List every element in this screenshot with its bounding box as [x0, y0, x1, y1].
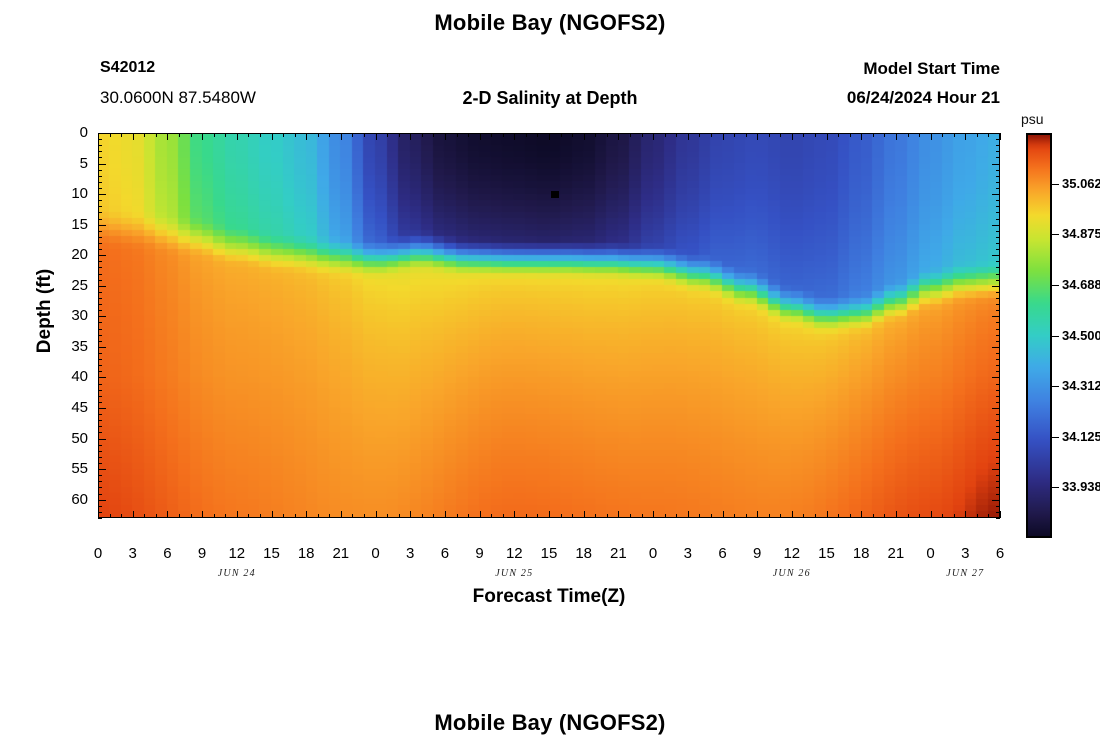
x-minor-tick [769, 133, 770, 137]
y-minor-tick [996, 182, 1000, 183]
y-minor-tick [996, 414, 1000, 415]
x-minor-tick [884, 133, 885, 137]
x-minor-tick [248, 133, 249, 137]
y-tick-right [992, 408, 1000, 409]
x-tick-bottom [757, 511, 758, 518]
x-tick-bottom [480, 511, 481, 518]
y-minor-tick [98, 139, 102, 140]
y-minor-tick [996, 280, 1000, 281]
x-minor-tick [156, 514, 157, 518]
y-tick-left [98, 286, 106, 287]
x-date-label: JUN 24 [192, 568, 282, 579]
x-tick-top [410, 133, 411, 140]
x-tick-bottom [723, 511, 724, 518]
y-minor-tick [996, 365, 1000, 366]
x-tick-top [618, 133, 619, 140]
y-tick-label: 45 [48, 399, 88, 416]
x-minor-tick [734, 133, 735, 137]
x-tick-bottom [133, 511, 134, 518]
y-minor-tick [98, 219, 102, 220]
x-date-label: JUN 25 [469, 568, 559, 579]
x-tick-bottom [861, 511, 862, 518]
y-minor-tick [996, 206, 1000, 207]
x-tick-bottom [931, 511, 932, 518]
y-minor-tick [98, 341, 102, 342]
y-minor-tick [996, 170, 1000, 171]
x-minor-tick [468, 133, 469, 137]
y-minor-tick [98, 292, 102, 293]
y-minor-tick [996, 341, 1000, 342]
y-tick-label: 60 [48, 491, 88, 508]
x-tick-bottom [653, 511, 654, 518]
colorbar-tick-label: 34.688 [1062, 277, 1100, 292]
y-minor-tick [996, 335, 1000, 336]
y-minor-tick [98, 426, 102, 427]
y-minor-tick [98, 475, 102, 476]
x-minor-tick [468, 514, 469, 518]
y-minor-tick [996, 481, 1000, 482]
x-minor-tick [665, 133, 666, 137]
x-minor-tick [225, 133, 226, 137]
y-minor-tick [98, 335, 102, 336]
y-tick-left [98, 347, 106, 348]
model-start-time-label: Model Start Time [0, 59, 1000, 79]
y-minor-tick [98, 384, 102, 385]
y-minor-tick [996, 157, 1000, 158]
y-minor-tick [98, 365, 102, 366]
x-minor-tick [873, 133, 874, 137]
x-minor-tick [191, 514, 192, 518]
salinity-heatmap [98, 133, 1000, 518]
y-tick-right [992, 439, 1000, 440]
x-minor-tick [676, 514, 677, 518]
x-minor-tick [954, 133, 955, 137]
station-position-marker [551, 191, 559, 198]
y-minor-tick [996, 151, 1000, 152]
y-minor-tick [98, 414, 102, 415]
y-minor-tick [996, 274, 1000, 275]
y-minor-tick [98, 518, 102, 519]
x-date-label: JUN 27 [920, 568, 1010, 579]
y-minor-tick [996, 298, 1000, 299]
y-minor-tick [98, 274, 102, 275]
y-minor-tick [98, 145, 102, 146]
y-tick-label: 0 [48, 124, 88, 141]
x-minor-tick [399, 514, 400, 518]
x-minor-tick [780, 133, 781, 137]
x-minor-tick [711, 133, 712, 137]
x-minor-tick [769, 514, 770, 518]
x-tick-bottom [445, 511, 446, 518]
y-minor-tick [98, 206, 102, 207]
y-minor-tick [98, 176, 102, 177]
colorbar-tick [1052, 184, 1059, 185]
x-minor-tick [191, 133, 192, 137]
x-tick-top [272, 133, 273, 140]
y-minor-tick [98, 457, 102, 458]
x-minor-tick [803, 133, 804, 137]
y-tick-right [992, 347, 1000, 348]
colorbar-tick-label: 33.938 [1062, 479, 1100, 494]
x-minor-tick [387, 514, 388, 518]
x-minor-tick [526, 514, 527, 518]
x-minor-tick [977, 514, 978, 518]
x-minor-tick [873, 514, 874, 518]
x-tick-bottom [792, 511, 793, 518]
x-minor-tick [457, 514, 458, 518]
x-tick-top [480, 133, 481, 140]
y-minor-tick [98, 237, 102, 238]
y-tick-right [992, 194, 1000, 195]
x-minor-tick [630, 514, 631, 518]
y-minor-tick [98, 243, 102, 244]
x-tick-bottom [272, 511, 273, 518]
x-minor-tick [364, 514, 365, 518]
x-minor-tick [942, 133, 943, 137]
y-minor-tick [996, 371, 1000, 372]
x-tick-top [688, 133, 689, 140]
y-minor-tick [98, 420, 102, 421]
y-minor-tick [996, 487, 1000, 488]
x-tick-top [202, 133, 203, 140]
colorbar-gradient [1028, 135, 1050, 536]
y-minor-tick [996, 261, 1000, 262]
x-tick-top [167, 133, 168, 140]
x-minor-tick [352, 133, 353, 137]
x-minor-tick [988, 133, 989, 137]
x-minor-tick [399, 133, 400, 137]
y-tick-left [98, 225, 106, 226]
x-minor-tick [607, 133, 608, 137]
y-minor-tick [98, 182, 102, 183]
y-tick-left [98, 164, 106, 165]
x-tick-top [376, 133, 377, 140]
y-minor-tick [996, 359, 1000, 360]
y-tick-label: 15 [48, 216, 88, 233]
y-minor-tick [98, 432, 102, 433]
x-minor-tick [942, 514, 943, 518]
y-minor-tick [996, 249, 1000, 250]
y-minor-tick [996, 390, 1000, 391]
colorbar-tick-label: 34.312 [1062, 378, 1100, 393]
x-minor-tick [329, 514, 330, 518]
y-minor-tick [98, 481, 102, 482]
x-minor-tick [318, 133, 319, 137]
x-minor-tick [884, 514, 885, 518]
x-minor-tick [283, 133, 284, 137]
x-minor-tick [537, 514, 538, 518]
y-minor-tick [98, 151, 102, 152]
x-tick-bottom [688, 511, 689, 518]
x-minor-tick [561, 514, 562, 518]
y-minor-tick [996, 445, 1000, 446]
colorbar-tick-label: 34.125 [1062, 429, 1100, 444]
y-minor-tick [996, 384, 1000, 385]
y-minor-tick [996, 219, 1000, 220]
x-minor-tick [422, 133, 423, 137]
y-tick-label: 50 [48, 430, 88, 447]
x-minor-tick [815, 514, 816, 518]
y-tick-left [98, 408, 106, 409]
y-tick-right [992, 500, 1000, 501]
x-tick-bottom [618, 511, 619, 518]
x-minor-tick [214, 514, 215, 518]
colorbar-unit-label: psu [1021, 111, 1044, 127]
y-minor-tick [98, 322, 102, 323]
y-minor-tick [996, 329, 1000, 330]
y-minor-tick [98, 353, 102, 354]
y-minor-tick [98, 506, 102, 507]
y-tick-left [98, 255, 106, 256]
page-title-bottom: Mobile Bay (NGOFS2) [0, 710, 1100, 736]
y-tick-left [98, 194, 106, 195]
x-minor-tick [919, 514, 920, 518]
x-minor-tick [179, 133, 180, 137]
x-minor-tick [144, 514, 145, 518]
x-minor-tick [630, 133, 631, 137]
y-tick-right [992, 164, 1000, 165]
y-minor-tick [98, 157, 102, 158]
y-minor-tick [996, 518, 1000, 519]
y-minor-tick [996, 322, 1000, 323]
heatmap-plot-area [98, 133, 1000, 518]
y-minor-tick [98, 188, 102, 189]
y-minor-tick [98, 212, 102, 213]
y-minor-tick [996, 353, 1000, 354]
y-minor-tick [996, 457, 1000, 458]
x-tick-top [341, 133, 342, 140]
x-tick-bottom [827, 511, 828, 518]
y-minor-tick [996, 212, 1000, 213]
x-minor-tick [780, 514, 781, 518]
x-minor-tick [179, 514, 180, 518]
x-minor-tick [433, 514, 434, 518]
y-minor-tick [996, 494, 1000, 495]
y-minor-tick [996, 420, 1000, 421]
x-tick-top [237, 133, 238, 140]
x-tick-top [757, 133, 758, 140]
x-minor-tick [561, 133, 562, 137]
colorbar [1026, 133, 1052, 538]
y-minor-tick [996, 139, 1000, 140]
y-minor-tick [98, 359, 102, 360]
colorbar-tick [1052, 285, 1059, 286]
y-tick-left [98, 439, 106, 440]
x-minor-tick [676, 133, 677, 137]
x-minor-tick [850, 133, 851, 137]
y-minor-tick [996, 432, 1000, 433]
y-minor-tick [98, 494, 102, 495]
y-tick-label: 10 [48, 185, 88, 202]
y-minor-tick [996, 292, 1000, 293]
x-minor-tick [433, 133, 434, 137]
colorbar-tick [1052, 437, 1059, 438]
x-minor-tick [260, 133, 261, 137]
x-minor-tick [642, 514, 643, 518]
y-minor-tick [996, 237, 1000, 238]
y-tick-left [98, 316, 106, 317]
x-tick-top [1000, 133, 1001, 140]
y-minor-tick [996, 396, 1000, 397]
y-minor-tick [98, 200, 102, 201]
colorbar-tick [1052, 336, 1059, 337]
x-minor-tick [295, 514, 296, 518]
x-tick-top [931, 133, 932, 140]
x-minor-tick [537, 133, 538, 137]
y-minor-tick [996, 145, 1000, 146]
colorbar-tick [1052, 487, 1059, 488]
x-minor-tick [121, 133, 122, 137]
x-minor-tick [283, 514, 284, 518]
x-minor-tick [110, 514, 111, 518]
x-minor-tick [110, 133, 111, 137]
x-minor-tick [595, 133, 596, 137]
x-minor-tick [387, 133, 388, 137]
y-minor-tick [98, 396, 102, 397]
x-minor-tick [734, 514, 735, 518]
y-minor-tick [98, 249, 102, 250]
x-tick-top [965, 133, 966, 140]
x-tick-top [792, 133, 793, 140]
x-tick-bottom [965, 511, 966, 518]
x-minor-tick [295, 133, 296, 137]
y-minor-tick [98, 402, 102, 403]
y-tick-label: 55 [48, 460, 88, 477]
y-tick-right [992, 469, 1000, 470]
y-minor-tick [98, 329, 102, 330]
x-tick-bottom [514, 511, 515, 518]
x-minor-tick [364, 133, 365, 137]
x-date-label: JUN 26 [747, 568, 837, 579]
x-tick-bottom [584, 511, 585, 518]
y-minor-tick [996, 176, 1000, 177]
x-minor-tick [815, 133, 816, 137]
y-minor-tick [996, 506, 1000, 507]
x-tick-top [896, 133, 897, 140]
x-minor-tick [908, 133, 909, 137]
y-minor-tick [98, 487, 102, 488]
x-tick-top [653, 133, 654, 140]
x-minor-tick [803, 514, 804, 518]
y-minor-tick [996, 475, 1000, 476]
x-tick-bottom [376, 511, 377, 518]
y-tick-right [992, 133, 1000, 134]
y-minor-tick [98, 280, 102, 281]
y-minor-tick [98, 512, 102, 513]
x-tick-bottom [1000, 511, 1001, 518]
y-tick-left [98, 500, 106, 501]
x-tick-bottom [237, 511, 238, 518]
x-minor-tick [457, 133, 458, 137]
x-minor-tick [572, 514, 573, 518]
x-minor-tick [491, 514, 492, 518]
y-tick-label: 5 [48, 155, 88, 172]
x-tick-top [549, 133, 550, 140]
y-tick-left [98, 469, 106, 470]
y-minor-tick [996, 402, 1000, 403]
x-minor-tick [665, 514, 666, 518]
colorbar-tick-label: 34.500 [1062, 328, 1100, 343]
x-axis-title: Forecast Time(Z) [98, 586, 1000, 608]
colorbar-tick-label: 35.062 [1062, 176, 1100, 191]
y-tick-right [992, 225, 1000, 226]
y-minor-tick [98, 231, 102, 232]
x-minor-tick [977, 133, 978, 137]
x-tick-bottom [410, 511, 411, 518]
y-minor-tick [98, 390, 102, 391]
x-minor-tick [352, 514, 353, 518]
y-minor-tick [996, 451, 1000, 452]
y-minor-tick [996, 243, 1000, 244]
x-tick-top [861, 133, 862, 140]
x-minor-tick [329, 133, 330, 137]
x-tick-bottom [167, 511, 168, 518]
y-minor-tick [996, 200, 1000, 201]
y-minor-tick [996, 267, 1000, 268]
colorbar-tick [1052, 386, 1059, 387]
x-minor-tick [607, 514, 608, 518]
x-minor-tick [318, 514, 319, 518]
x-minor-tick [988, 514, 989, 518]
y-tick-right [992, 316, 1000, 317]
x-minor-tick [642, 133, 643, 137]
colorbar-tick-label: 34.875 [1062, 226, 1100, 241]
x-tick-label: 6 [980, 545, 1020, 562]
x-minor-tick [838, 514, 839, 518]
x-minor-tick [503, 514, 504, 518]
y-minor-tick [98, 371, 102, 372]
x-minor-tick [156, 133, 157, 137]
x-minor-tick [699, 514, 700, 518]
x-minor-tick [491, 133, 492, 137]
x-tick-top [584, 133, 585, 140]
y-minor-tick [98, 304, 102, 305]
x-tick-top [445, 133, 446, 140]
y-minor-tick [996, 463, 1000, 464]
x-minor-tick [214, 133, 215, 137]
x-minor-tick [503, 133, 504, 137]
y-tick-left [98, 377, 106, 378]
x-tick-bottom [341, 511, 342, 518]
y-minor-tick [996, 231, 1000, 232]
model-start-time-value: 06/24/2024 Hour 21 [0, 88, 1000, 108]
x-minor-tick [526, 133, 527, 137]
y-tick-right [992, 286, 1000, 287]
x-minor-tick [838, 133, 839, 137]
x-tick-top [827, 133, 828, 140]
y-minor-tick [98, 463, 102, 464]
x-tick-top [133, 133, 134, 140]
y-minor-tick [98, 298, 102, 299]
colorbar-tick [1052, 234, 1059, 235]
y-tick-right [992, 377, 1000, 378]
y-minor-tick [98, 451, 102, 452]
x-tick-top [306, 133, 307, 140]
y-minor-tick [996, 188, 1000, 189]
x-minor-tick [908, 514, 909, 518]
x-tick-top [723, 133, 724, 140]
y-minor-tick [996, 304, 1000, 305]
x-minor-tick [711, 514, 712, 518]
y-tick-right [992, 255, 1000, 256]
x-minor-tick [248, 514, 249, 518]
x-minor-tick [746, 514, 747, 518]
x-tick-bottom [896, 511, 897, 518]
x-minor-tick [225, 514, 226, 518]
x-minor-tick [954, 514, 955, 518]
x-minor-tick [699, 133, 700, 137]
x-tick-top [514, 133, 515, 140]
